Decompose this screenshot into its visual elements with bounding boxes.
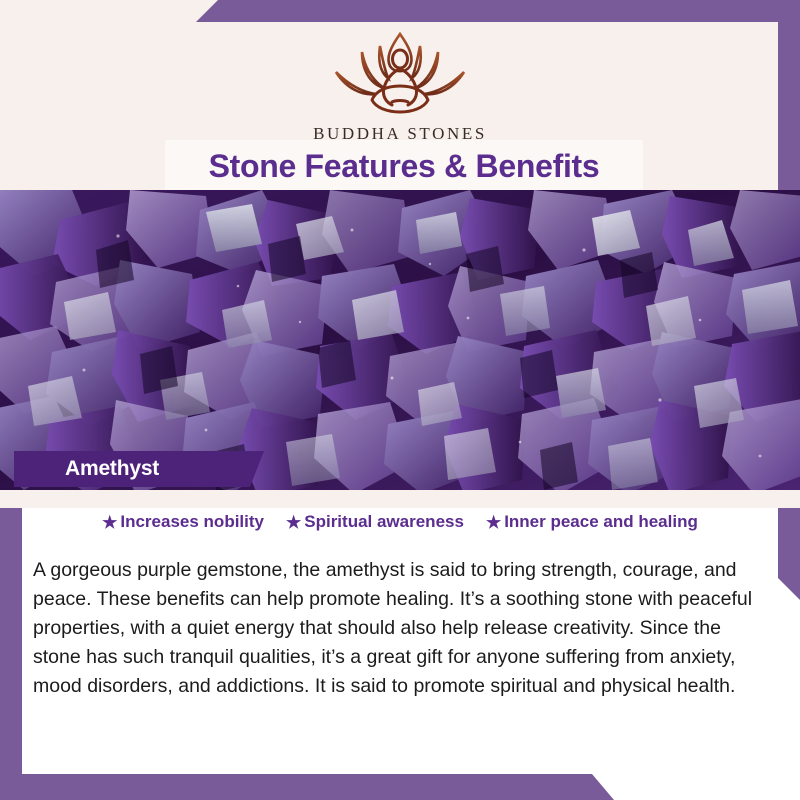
benefit-label-3: Inner peace and healing — [504, 512, 698, 532]
lotus-meditation-figure-icon — [320, 26, 480, 122]
star-icon: ★ — [102, 514, 117, 531]
frame-border-bottom — [0, 774, 800, 800]
stone-benefits-infographic: BUDDHA STONES Stone Features & Benefits — [0, 0, 800, 800]
benefits-list: ★ Increases nobility ★ Spiritual awarene… — [22, 512, 778, 532]
benefit-item-2: ★ Spiritual awareness — [286, 512, 464, 532]
brand-logo: BUDDHA STONES — [0, 26, 800, 144]
hero-image — [0, 190, 800, 490]
description-text: A gorgeous purple gemstone, the amethyst… — [33, 556, 773, 701]
benefit-item-3: ★ Inner peace and healing — [486, 512, 698, 532]
frame-border-left — [0, 468, 22, 800]
benefit-item-1: ★ Increases nobility — [102, 512, 264, 532]
amethyst-crystal-cluster-photo — [0, 190, 800, 490]
page-title: Stone Features & Benefits — [209, 148, 600, 185]
cream-divider-strip — [0, 490, 800, 508]
stone-name-text: Amethyst — [65, 457, 159, 481]
benefit-label-1: Increases nobility — [120, 512, 264, 532]
stone-name-label: Amethyst — [14, 451, 264, 487]
star-icon: ★ — [486, 514, 501, 531]
benefit-label-2: Spiritual awareness — [304, 512, 464, 532]
star-icon: ★ — [286, 514, 301, 531]
page-title-bar: Stone Features & Benefits — [165, 140, 643, 192]
